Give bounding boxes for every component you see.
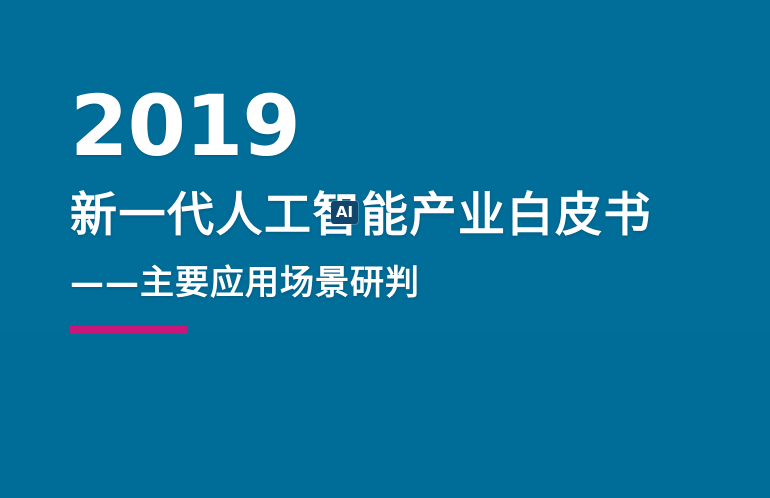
page-title: 新一代人工智能产业白皮书 [70, 188, 652, 244]
page-subtitle: ——主要应用场景研判 [70, 262, 652, 304]
cover-text-block: 2019 新一代人工智能产业白皮书 AI ——主要应用场景研判 [70, 84, 652, 334]
main-title-row: 新一代人工智能产业白皮书 AI [70, 188, 652, 246]
report-cover: 2019 新一代人工智能产业白皮书 AI ——主要应用场景研判 [0, 0, 770, 498]
ai-badge-label: AI [336, 205, 353, 220]
cover-year: 2019 [70, 84, 652, 174]
accent-bar [70, 326, 187, 334]
ai-badge: AI [331, 201, 358, 224]
